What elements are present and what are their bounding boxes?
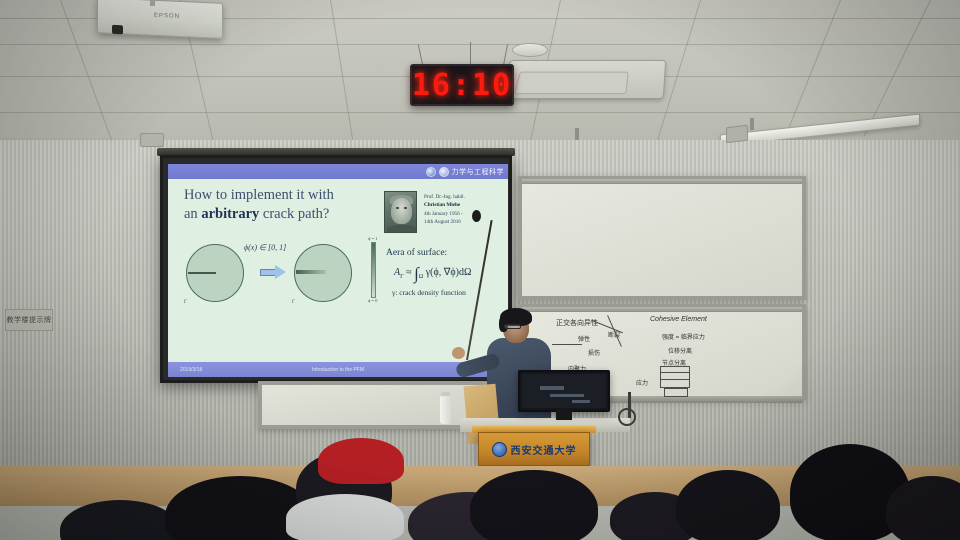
slide-title-emphasis: arbitrary [201,206,259,222]
formula-approx: ≈ [406,267,412,278]
lectern: 西安交通大学 [478,432,590,466]
phase-field-colorbar [371,242,376,298]
glasses-icon [504,324,521,329]
colorbar-top-label: ϕ = 1 [368,236,377,241]
formula-integral-domain: Ω [419,274,423,280]
lecture-hall-photo: EPSON 教学楼提示牌 16:10 力学与工程科学 How to implem… [0,0,960,540]
wall-duct-left [140,133,164,147]
slide-footer-title: Introduction to the PFM [312,367,364,373]
bio-line3: 4th January 1956 - [424,211,463,217]
formula-rhs: γ(ϕ, ∇ϕ)dΩ [426,267,472,278]
whiteboard-note: 位移分离 [668,346,692,355]
bio-name: Christian Miehe [424,202,460,208]
crack-hatch-label-right: Γ [292,300,296,305]
slide-header-chinese-title: 力学与工程科学 [452,167,505,177]
slide-title-line1: How to implement it with [184,187,334,203]
sharp-crack-line [188,272,216,274]
audience-red-cap [318,438,404,484]
slide-title-line2-head: an [184,206,201,222]
wall-sign: 教学楼提示牌 [5,309,53,331]
colorbar-bottom-label: ϕ = 0 [368,298,377,303]
projector: EPSON [97,0,223,39]
presenter-hand [452,347,465,359]
diffuse-crack-band [296,270,326,274]
university-seal-icon [426,167,436,177]
slide-title-line2-tail: crack path? [259,206,329,222]
water-bottle [440,396,451,424]
whiteboard-upper-right [518,176,806,300]
phase-field-figure: Γ ϕ(x) ∈ [0, 1] Γ ϕ = 1 ϕ = 0 [182,236,382,308]
wall-sign-text: 教学楼提示牌 [7,315,52,325]
smoke-detector-icon [512,43,548,57]
crack-hatch-label-left: Γ [184,300,188,305]
wall-duct-right [726,125,748,143]
portrait-photo-icon [384,191,417,233]
projector-brand-label: EPSON [154,13,180,20]
whiteboard-note: 强度 = 临界应力 [662,332,705,341]
audience-head [676,470,780,540]
area-of-surface-heading: Aera of surface: [386,248,447,258]
slide-footer-date: 2019/3/18 [180,367,202,373]
whiteboard-note: 应力 [636,378,648,387]
phase-field-range-label: ϕ(x) ∈ [0, 1] [244,243,286,252]
whiteboard-note: Cohesive Element [650,316,707,323]
institute-seal-icon [439,167,449,177]
lectern-university-name: 西安交通大学 [511,442,577,457]
projector-lens-icon [112,25,123,34]
slide-header-bar: 力学与工程科学 [168,164,508,179]
surface-area-formula: AΓ ≈ ∫Ω γ(ϕ, ∇ϕ)dΩ [394,264,471,284]
bio-line4: 14th August 2016 [424,219,461,225]
air-conditioner-vent [499,60,666,99]
audience-head [470,470,598,540]
slide-title: How to implement it with an arbitrary cr… [184,186,374,224]
presentation-slide: 力学与工程科学 How to implement it with an arbi… [168,164,508,377]
audience-head [60,500,180,540]
formula-lhs-sub: Γ [400,274,403,280]
projector-mount [150,0,155,6]
audience-white-cap [286,494,404,540]
presenter-monitor [518,370,610,412]
cable [628,392,631,418]
clock-time: 16:10 [412,68,512,103]
university-emblem-icon [492,442,507,457]
monitor-stand [556,410,572,420]
cable-coil [618,408,636,426]
whiteboard-note: 弹性 [578,334,590,343]
bio-line1: Prof. Dr.-Ing. habil. [424,194,465,200]
right-arrow-icon [260,266,286,278]
digital-wall-clock: 16:10 [410,64,514,106]
whiteboard-note: 损伤 [588,348,600,357]
crack-density-note: γ: crack density function [392,288,466,297]
pointer-tip [472,210,481,222]
